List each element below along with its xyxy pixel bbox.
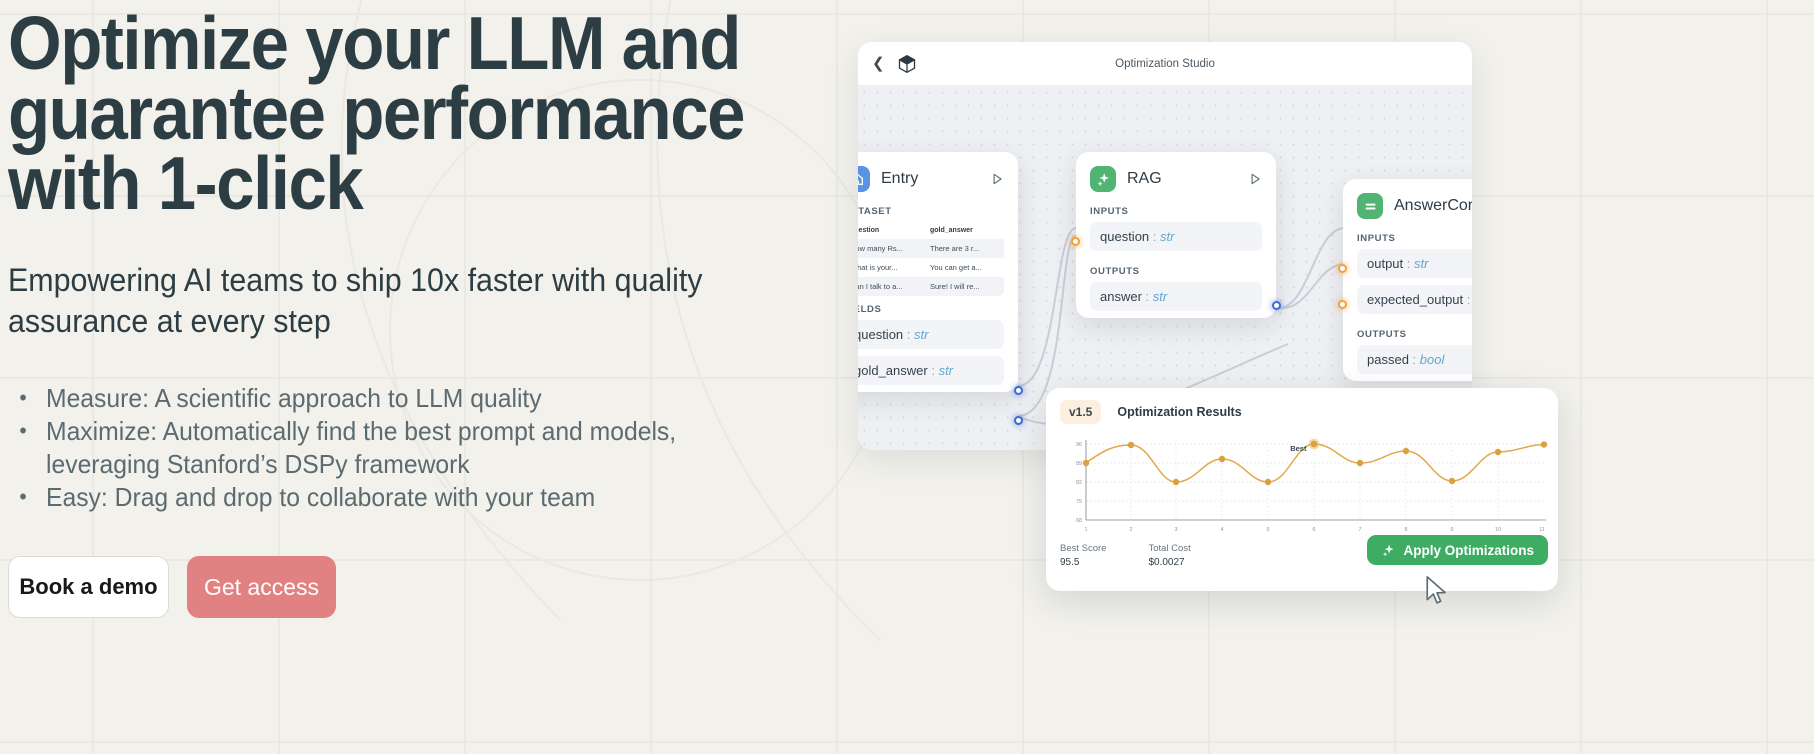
node-header: Entry (858, 152, 1018, 198)
field-type: str (1160, 229, 1174, 244)
list-item: Maximize: Automatically find the best pr… (8, 415, 768, 481)
list-item: Measure: A scientific approach to LLM qu… (8, 382, 768, 415)
field-separator: : (1149, 229, 1160, 244)
svg-text:10: 10 (1495, 527, 1501, 533)
node-answercorrectness[interactable]: AnswerCorrectness INPUTS output : str ex… (1343, 179, 1472, 381)
cell-question: How many Rs... (858, 239, 924, 258)
field-type: str (1414, 256, 1428, 271)
field-separator: : (903, 327, 914, 342)
mouse-pointer-icon (1424, 574, 1450, 608)
table-row[interactable]: What is your... You can get a... (858, 258, 1004, 277)
version-badge: v1.5 (1060, 400, 1101, 424)
field-type: str (1153, 289, 1167, 304)
field-separator: : (1403, 256, 1414, 271)
results-header: v1.5 Optimization Results (1046, 388, 1558, 428)
sparkles-icon (1381, 543, 1396, 558)
node-title: Entry (881, 170, 990, 188)
get-access-button[interactable]: Get access (187, 556, 336, 618)
studio-title: Optimization Studio (858, 58, 1472, 70)
field-name: answer (1100, 289, 1142, 304)
equals-bars-icon (1357, 193, 1383, 219)
stat-value: 95.5 (1060, 557, 1106, 568)
svg-text:11: 11 (1539, 527, 1545, 533)
svg-text:7: 7 (1359, 527, 1362, 533)
page-title: Optimize your LLM and guarantee performa… (8, 8, 744, 218)
stat-label: Total Cost (1148, 543, 1190, 554)
svg-text:1: 1 (1085, 527, 1088, 533)
node-entry[interactable]: Entry DATASET question gold_answer How m… (858, 152, 1018, 392)
node-rag[interactable]: RAG INPUTS question : str OUTPUTS answer… (1076, 152, 1276, 318)
field-type: str (914, 327, 928, 342)
cell-gold-answer: Sure! I will re... (924, 277, 1004, 296)
stat-total-cost: Total Cost $0.0027 (1148, 543, 1190, 568)
svg-text:4: 4 (1221, 527, 1224, 533)
node-title: RAG (1127, 170, 1248, 188)
inputs-section-label: INPUTS (1076, 198, 1276, 222)
stat-value: $0.0027 (1148, 557, 1190, 568)
svg-text:96: 96 (1076, 442, 1082, 448)
hero-subheading: Empowering AI teams to ship 10x faster w… (8, 260, 768, 342)
outputs-section-label: OUTPUTS (1076, 258, 1276, 282)
svg-text:5: 5 (1267, 527, 1270, 533)
cell-question: What is your... (858, 258, 924, 277)
stat-label: Best Score (1060, 543, 1106, 554)
field-separator: : (1409, 352, 1420, 367)
svg-text:9: 9 (1451, 527, 1454, 533)
output-port-gold-answer[interactable] (1014, 416, 1023, 425)
field-name: gold_answer (858, 363, 928, 378)
field-separator: : (928, 363, 939, 378)
field-separator: : (1463, 292, 1472, 307)
outputs-section-label: OUTPUTS (1343, 321, 1472, 345)
studio-toolbar: ❮ Optimization Studio (858, 42, 1472, 86)
svg-text:82: 82 (1076, 480, 1082, 486)
results-footer: Best Score 95.5 Total Cost $0.0027 Apply… (1046, 537, 1558, 568)
cta-button-row: Book a demo Get access (8, 556, 808, 618)
svg-text:89: 89 (1076, 461, 1082, 467)
home-icon (858, 166, 870, 192)
apply-optimizations-button[interactable]: Apply Optimizations (1367, 535, 1548, 565)
cell-gold-answer: There are 3 r... (924, 239, 1004, 258)
input-expected-output[interactable]: expected_output : str (1357, 285, 1472, 314)
output-passed[interactable]: passed : bool (1357, 345, 1472, 374)
table-header-row: question gold_answer (858, 222, 1004, 239)
book-a-demo-button[interactable]: Book a demo (8, 556, 169, 618)
dataset-table[interactable]: question gold_answer How many Rs... Ther… (858, 222, 1004, 296)
input-output[interactable]: output : str (1357, 249, 1472, 278)
input-port-expected-output[interactable] (1338, 300, 1347, 309)
output-port-answer[interactable] (1272, 301, 1281, 310)
field-question[interactable]: question : str (858, 320, 1004, 349)
column-header-question: question (858, 222, 924, 239)
table-row[interactable]: Can I talk to a... Sure! I will re... (858, 277, 1004, 296)
svg-text:8: 8 (1405, 527, 1408, 533)
table-row[interactable]: How many Rs... There are 3 r... (858, 239, 1004, 258)
node-header: RAG (1076, 152, 1276, 198)
input-question[interactable]: question : str (1090, 222, 1262, 251)
apply-optimizations-label: Apply Optimizations (1403, 543, 1534, 558)
field-name: output (1367, 256, 1403, 271)
output-answer[interactable]: answer : str (1090, 282, 1262, 311)
field-gold-answer[interactable]: gold_answer : str (858, 356, 1004, 385)
field-name: passed (1367, 352, 1409, 367)
dataset-section-label: DATASET (858, 198, 1018, 222)
cell-gold-answer: You can get a... (924, 258, 1004, 277)
svg-text:3: 3 (1175, 527, 1178, 533)
field-name: expected_output (1367, 292, 1463, 307)
svg-text:75: 75 (1076, 499, 1082, 505)
field-name: question (1100, 229, 1149, 244)
cell-question: Can I talk to a... (858, 277, 924, 296)
optimization-results-chart: 96 89 82 75 68 1 2 3 4 5 6 7 8 9 10 11 (1056, 432, 1548, 537)
play-icon[interactable] (1248, 172, 1262, 186)
field-type: str (939, 363, 953, 378)
inputs-section-label: INPUTS (1343, 225, 1472, 249)
results-title: Optimization Results (1117, 405, 1241, 419)
field-type: bool (1420, 352, 1445, 367)
node-title: AnswerCorrectness (1394, 197, 1472, 215)
svg-text:68: 68 (1076, 518, 1082, 524)
field-name: question (858, 327, 903, 342)
input-port-output[interactable] (1338, 264, 1347, 273)
column-header-gold-answer: gold_answer (924, 222, 1004, 239)
optimization-results-panel: v1.5 Optimization Results (1046, 388, 1558, 591)
sparkles-icon (1090, 166, 1116, 192)
input-port-question[interactable] (1071, 237, 1080, 246)
stat-best-score: Best Score 95.5 (1060, 543, 1106, 568)
svg-text:2: 2 (1130, 527, 1133, 533)
field-separator: : (1142, 289, 1153, 304)
list-item: Easy: Drag and drop to collaborate with … (8, 481, 768, 514)
output-port-question[interactable] (1014, 386, 1023, 395)
svg-text:6: 6 (1313, 527, 1316, 533)
fields-section-label: FIELDS (858, 296, 1018, 320)
play-icon[interactable] (990, 172, 1004, 186)
hero-section: Optimize your LLM and guarantee performa… (8, 0, 808, 618)
node-header: AnswerCorrectness (1343, 179, 1472, 225)
best-point-annotation: Best (1290, 444, 1306, 453)
feature-bullet-list: Measure: A scientific approach to LLM qu… (8, 382, 768, 514)
